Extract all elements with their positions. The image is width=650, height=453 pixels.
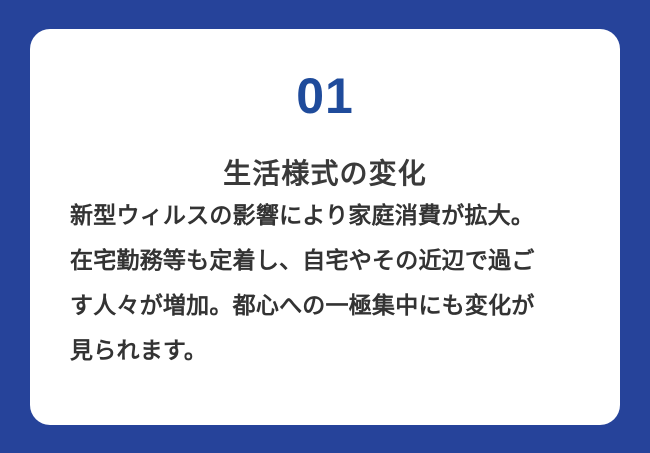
body-line: 在宅勤務等も定着し、自宅やその近辺で過ご (70, 239, 580, 284)
content-card: 01 生活様式の変化 新型ウィルスの影響により家庭消費が拡大。 在宅勤務等も定着… (30, 29, 620, 425)
body-line: 見られます。 (70, 329, 580, 374)
page-title: 生活様式の変化 (30, 158, 620, 190)
card-inner: 01 生活様式の変化 新型ウィルスの影響により家庭消費が拡大。 在宅勤務等も定着… (30, 29, 620, 425)
body-line: す人々が増加。都心への一極集中にも変化が (70, 284, 580, 329)
body-line: 新型ウィルスの影響により家庭消費が拡大。 (70, 194, 580, 239)
body-paragraph: 新型ウィルスの影響により家庭消費が拡大。 在宅勤務等も定着し、自宅やその近辺で過… (70, 194, 580, 374)
section-number: 01 (30, 71, 620, 121)
slide-root: 01 生活様式の変化 新型ウィルスの影響により家庭消費が拡大。 在宅勤務等も定着… (0, 0, 650, 453)
